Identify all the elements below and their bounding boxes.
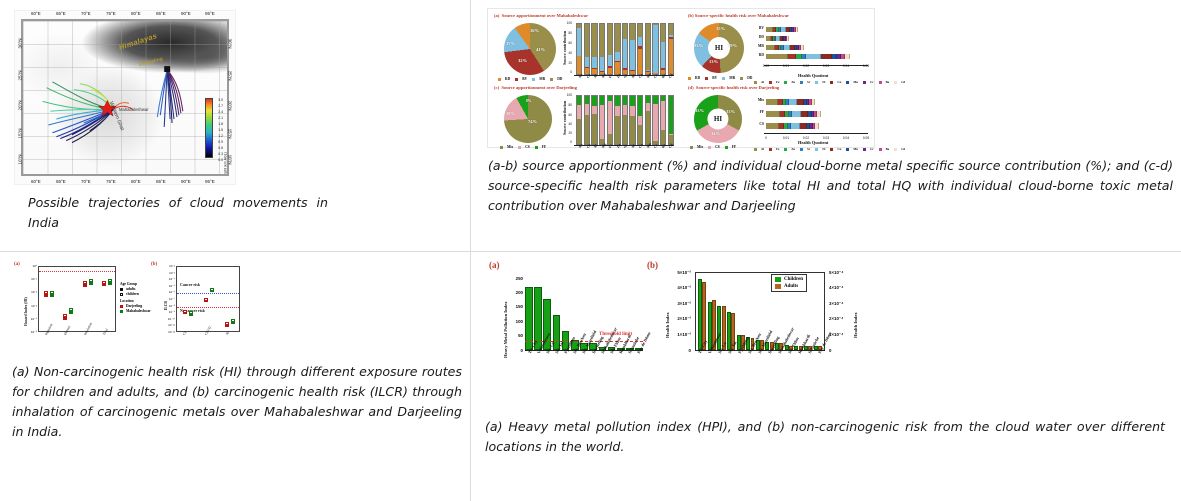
hpi-legend-adults: Adults [775,284,803,289]
stacked-bar-segment [577,119,581,144]
map-plot-area: Himalayas Darjeeling Mahabaleshwar Weste… [21,19,229,176]
scatter-ytick: 10⁻⁹ [164,310,175,314]
scatter-xlabel: Ni [225,331,230,336]
hbar-track [766,45,804,50]
stacked-bar-segment [623,24,627,39]
map-ytick-left: 15°N [17,129,22,139]
hpi-legend-children: Children [775,277,803,282]
hpi-panel-b-legend: Children Adults [771,274,807,292]
scatter-marker [44,291,48,294]
panel-b-pct-mr: 23% [694,43,703,48]
map-colorbar [205,98,213,158]
hbar-xtick: 0.00 [761,64,771,68]
hbar-category-label: RD [748,53,764,57]
stacked-bar-xlabel: Mn [646,142,652,149]
trajectory-map: Himalayas Darjeeling Mahabaleshwar Weste… [14,10,236,185]
map-ytick-right: 20°N [228,101,233,111]
stacked-bar-column [668,23,674,75]
stacked-bar-segment [630,40,634,70]
hbar-xtick: 0.02 [801,64,811,68]
stacked-bar-xlabel: Sr [623,74,628,79]
stacked-bar-column [599,95,605,145]
stacked-bar-segment [646,103,650,112]
map-xtick-bottom: 85°E [156,179,166,184]
stacked-bar-column [591,23,597,75]
hbar-segment [812,99,815,105]
stacked-bar-column [652,23,658,75]
scatter-marker [69,311,73,314]
hbar-segment [789,99,797,105]
map-xtick-bottom: 90°E [181,179,191,184]
hpi-b-ytick: 0 [669,348,691,353]
hbar-category-label: CS [748,122,764,126]
hpi-b-ytick: 5×10⁻² [669,270,691,276]
hbar-xtick: 0.03 [821,64,831,68]
risk-panel-a-tag: (a) [14,262,20,267]
stacked-bar-segment [669,96,673,134]
stacked-bar-column [591,95,597,145]
hbar-segment [787,36,789,41]
stacked-bar-column [660,95,666,145]
panel-c-pct-ff: 8% [526,99,531,103]
hpi-ytick: 250 [509,276,523,281]
map-xtick-bottom: 60°E [31,179,41,184]
scatter-marker [50,291,54,294]
stacked-bar-xlabel: Na [578,73,584,79]
panel-c-pct-cs: 18% [506,111,515,116]
stacked-bar-column [622,23,628,75]
hpi-b-ytick: 2×10⁻⁴ [829,316,851,322]
panel-a-pct-mr: 17% [506,41,515,46]
stacked-bar-segment [600,96,604,105]
risk-figure-cell: (a) Hazard Index (HI) 10⁰10⁻¹10⁻²10⁻³10⁻… [0,252,471,501]
stacked-bar-xlabel: Ni [631,144,636,149]
risk-panel-b-cancer-line [177,293,239,294]
panel-c-ytick: 100 [564,93,572,97]
stacked-bar-column [607,95,613,145]
hpi-ytick: 150 [509,304,523,309]
stacked-bar-column [584,95,590,145]
stacked-bar-column [629,95,635,145]
map-caption: Possible trajectories of cloud movements… [28,193,328,233]
risk-legend-box: Age Group adults children Location Darje… [120,282,151,313]
map-xtick-top: 70°E [81,11,91,16]
stacked-bar-column [660,23,666,75]
stacked-bar-column [645,95,651,145]
panel-d-title: (d) Source-specific health risk over Dar… [688,85,779,90]
stacked-bar-segment [623,115,627,144]
map-panel-cell: Himalayas Darjeeling Mahabaleshwar Weste… [0,0,471,252]
map-ytick-right: 15°N [228,129,233,139]
stacked-bar-xlabel: Zn [616,73,622,79]
stacked-bar-segment [615,96,619,106]
panel-b-pct-bv: 13% [709,59,718,64]
scatter-xlabel: Cd [182,330,187,335]
stacked-bar-segment [577,56,581,75]
scatter-marker [189,311,193,314]
hbar-segment [788,54,796,59]
risk-panel-a-ylabel: Hazard Index (HI) [24,297,28,326]
hpi-b-ytick: 4×10⁻² [669,285,691,291]
hbar-category-label: MR [748,44,764,48]
scatter-ytick: 10⁻¹² [164,330,175,334]
stacked-bar-segment [615,24,619,52]
hbar-segment [766,27,773,32]
hbar-xtick: 0.05 [861,136,871,140]
stacked-bar-segment [577,96,581,105]
risk-panel-b-tag: (b) [151,262,157,267]
stacked-bar-segment [669,24,673,35]
stacked-bar-segment [615,52,619,61]
scatter-ytick: 10⁻² [26,290,37,294]
stacked-bar-segment [661,42,665,69]
scatter-marker [83,284,87,287]
panel-a-pct-rd: 16% [530,28,539,33]
risk-panel-a-threshold [39,271,115,272]
hbar-category-label: DD [748,35,764,39]
panel-d-donut-center-label: HI [714,115,722,123]
scatter-marker [108,282,112,285]
hbar-track [766,54,850,59]
hbar-segment [766,54,788,59]
panel-d-pct-ff: 33% [695,108,704,113]
panel-b-xlabel: Health Quotient [798,73,828,78]
stacked-bar-segment [577,28,581,56]
map-xtick-bottom: 80°E [131,179,141,184]
stacked-bar-segment [600,24,604,57]
stacked-bar-column [614,95,620,145]
panel-b-metal-legend: Al Fe Zn Sr Ni Cu Mn Cr Ba Cd [754,80,907,84]
hbar-segment [791,123,800,129]
risk-figure-caption: (a) Non-carcinogenic health risk (HI) th… [12,362,462,442]
scatter-ytick: 10⁻⁵ [26,330,37,334]
map-xtick-top: 75°E [106,11,116,16]
hbar-track [766,27,798,32]
hbar-category-label: FF [748,110,764,114]
panel-d-xaxis [764,133,868,134]
map-xtick-bottom: 65°E [56,179,66,184]
scatter-marker [63,317,67,320]
map-ytick-right: 30°N [228,39,233,49]
hbar-segment [792,111,801,117]
hbar-track [766,36,789,41]
hpi-figure-caption: (a) Heavy metal pollution index (HPI), a… [485,417,1165,457]
stacked-bar-column [576,23,582,75]
hbar-segment [766,99,778,105]
stacked-bar-column [622,95,628,145]
panel-a-ylabel: Source contribution [562,31,567,65]
hbar-segment [766,123,779,129]
stacked-bar-segment [608,101,612,135]
map-ytick-left: 30°N [17,39,22,49]
stacked-bar-segment [592,114,596,144]
scatter-marker [102,281,106,284]
stacked-bar-column [614,23,620,75]
panel-c-title: (c) Source apportionment over Darjeeling [494,85,577,90]
scatter-marker [108,279,112,282]
risk-panel-b-note-cancer: Cancer risk [180,282,200,287]
stacked-bar-xlabel: Mg [601,73,607,79]
panel-c-ytick: 20 [564,131,572,135]
hbar-xtick: 0.04 [841,64,851,68]
stacked-bar-segment [653,104,657,141]
panel-a-ytick: 0 [564,70,572,74]
hbar-segment [817,111,821,117]
scatter-marker [63,314,67,317]
legend-item-mahabaleshwar: Mahabaleshwar [120,309,151,313]
panel-d-pct-cs: 34% [711,131,720,136]
stacked-bar-column [584,23,590,75]
scatter-ytick: 10⁻⁸ [164,304,175,308]
stacked-bar-segment [585,57,589,67]
stacked-bar-segment [638,125,642,144]
stacked-bar-segment [585,115,589,144]
stacked-bar-xlabel: Ba [661,73,666,78]
panel-c-ytick: 40 [564,122,572,126]
stacked-bar-segment [630,24,634,40]
hpi-b-ytick: 2×10⁻² [669,316,691,322]
stacked-bar-segment [638,37,642,47]
stacked-bar-segment [600,105,604,140]
stacked-bar-xlabel: Cu [638,143,644,149]
hpi-panel-b-tag: (b) [647,260,658,270]
hbar-xtick: 0.04 [841,136,851,140]
stacked-bar-segment [630,96,634,106]
scatter-marker [231,319,235,322]
panel-b-donut-center-label: HI [715,44,723,52]
scatter-marker [83,281,87,284]
panel-a-pct-dd: 41% [536,47,545,52]
map-wrapper: Himalayas Darjeeling Mahabaleshwar Weste… [0,0,470,233]
scatter-ytick: 10⁻⁵ [164,284,175,288]
map-annotation-mahabaleshwar: Mahabaleshwar [119,107,149,112]
scatter-ytick: 10⁻⁴ [26,317,37,321]
stacked-bar-xlabel: Al [593,144,598,149]
stacked-bar-column [629,23,635,75]
stacked-bar-xlabel: Cr [653,143,658,148]
stacked-bar-segment [661,101,665,130]
stacked-bar-segment [638,49,642,74]
stacked-bar-segment [661,130,665,144]
panel-b-xaxis [764,65,868,66]
panel-c-ytick: 60 [564,113,572,117]
hbar-segment [815,123,819,129]
hbar-category-label: Mix [748,98,764,102]
panel-a-ytick: 20 [564,61,572,65]
stacked-bar-xlabel: Ni [631,74,636,79]
stacked-bar-segment [638,96,642,116]
stacked-bar-column [652,95,658,145]
map-xtick-top: 65°E [56,11,66,16]
panel-b-title: (b) Source-specific health risk over Mah… [688,13,789,18]
scatter-marker [69,308,73,311]
stacked-bar-segment [623,39,627,68]
scatter-ytick: 10⁻⁷ [164,297,175,301]
scatter-ytick: 10⁰ [26,264,37,268]
stacked-bar-segment [592,96,596,106]
stacked-bar-xlabel: Al [593,74,598,79]
hbar-segment [801,45,804,50]
stacked-bar-segment [653,96,657,104]
scatter-ytick: 10⁻¹ [26,277,37,281]
hbar-segment [801,111,808,117]
panel-d-xlabel: Health Quotient [798,140,828,145]
stacked-bar-segment [592,57,596,68]
hpi-b-ytick: 0 [829,348,851,353]
stacked-bar-segment [630,106,634,117]
map-ytick-right: 25°N [228,71,233,81]
panel-c-ytick: 80 [564,103,572,107]
hpi-figure-cell: (a) Heavy Metal Pollution Index 25020015… [471,252,1181,501]
stacked-bar-segment [646,111,650,144]
map-xtick-top: 90°E [181,11,191,16]
risk-figure: (a) Hazard Index (HI) 10⁰10⁻¹10⁻²10⁻³10⁻… [8,260,243,358]
scatter-ytick: 10⁻² [164,264,175,268]
scatter-marker [204,298,208,301]
hpi-panel-a-ylabel: Heavy Metal Pollution Index [503,301,508,358]
hpi-b-ytick: 3×10⁻⁴ [829,301,851,307]
hpi-ytick: 50 [509,333,523,338]
stacked-bar-segment [638,24,642,37]
hpi-panel-b-ylabel-right: Health Index [853,312,858,338]
source-apportionment-caption-text: (a-b) source apportionment (%) and indiv… [488,156,1173,216]
stacked-bar-xlabel: Ba [661,143,666,148]
hbar-segment [766,111,780,117]
stacked-bar-segment [585,96,589,104]
stacked-bar-segment [608,55,612,66]
panel-c-pct-mix: 74% [528,119,537,124]
stacked-bar-xlabel: Mg [601,143,607,149]
stacked-bar-column [607,23,613,75]
stacked-bar-segment [592,24,596,57]
scatter-marker [89,282,93,285]
map-xtick-top: 95°E [205,11,215,16]
legend-item-darjeeling: Darjeeling [120,304,151,308]
panel-a-pct-bv: 32% [518,58,527,63]
hbar-category-label: BV [748,26,764,30]
stacked-bar-xlabel: Fe [608,74,613,79]
panel-b-legend: RD BV MR DD [688,76,754,80]
hpi-ytick: 200 [509,290,523,295]
stacked-bar-segment [608,24,612,55]
legend-item-children: children [120,292,151,296]
map-colorbar-ticks: 3.0 2.7 2.4 2.1 1.8 1.5 1.2 0.9 0.6 0.3 … [214,96,223,160]
scatter-marker [225,322,229,325]
hpi-ytick: 0 [509,348,523,353]
stacked-bar-xlabel: Ca [586,143,592,149]
panel-b-pct-dd: 49% [728,43,737,48]
stacked-bar-segment [653,25,657,73]
map-xtick-top: 60°E [31,11,41,16]
panel-a-ytick: 40 [564,51,572,55]
map-xtick-top: 85°E [156,11,166,16]
hpi-ytick: 100 [509,319,523,324]
panel-a-ytick: 80 [564,31,572,35]
stacked-bar-segment [585,104,589,116]
hbar-xtick: 0.05 [861,64,871,68]
panel-a-ytick: 100 [564,21,572,25]
stacked-bar-xlabel: Cu [638,73,644,79]
panel-a-legend: RD BV MR DD [498,77,564,81]
stacked-bar-segment [638,116,642,125]
stacked-bar-segment [630,116,634,144]
scatter-marker [102,283,106,286]
panel-a-title: (a) Source apportionment over Mahabalesh… [494,13,588,18]
panel-c-ytick: 0 [564,140,572,144]
stacked-bar-xlabel: Cd [668,143,674,149]
stacked-bar-segment [585,24,589,57]
scatter-marker [183,310,187,313]
stacked-bar-xlabel: Cr [653,73,658,78]
stacked-bar-segment [577,105,581,119]
hpi-bar-group-item [727,273,735,350]
panel-d-metal-legend: Al Fe Zn Sr Ni Cu Mn Cr Ba Cd [754,147,907,151]
hbar-track [766,111,821,117]
stacked-bar-column [576,95,582,145]
hbar-segment [806,54,820,59]
stacked-bar-column [668,95,674,145]
stacked-bar-segment [615,116,619,144]
stacked-bar-segment [646,96,650,103]
stacked-bar-segment [623,105,627,116]
hbar-xtick: 0.01 [781,136,791,140]
stacked-bar-segment [615,106,619,117]
stacked-bar-segment [600,57,604,71]
stacked-bar-xlabel: Zn [616,143,622,149]
panel-a-ytick: 60 [564,41,572,45]
stacked-bar-column [599,23,605,75]
stacked-bar-segment [623,96,627,105]
stacked-bar-column [637,95,643,145]
panel-d-legend: Mix CS FF [690,145,738,149]
stacked-bar-xlabel: Na [578,143,584,149]
map-ytick-left: 25°N [17,71,22,81]
scatter-marker [50,294,54,297]
stacked-bar-xlabel: Cd [668,73,674,79]
scatter-marker [89,279,93,282]
stacked-bar-segment [646,24,650,70]
stacked-bar-column [645,23,651,75]
hbar-segment [845,54,850,59]
hbar-xtick: 0.01 [781,64,791,68]
scatter-ytick: 10⁻⁶ [164,290,175,294]
map-xtick-bottom: 95°E [205,179,215,184]
source-apportionment-figure: (a) Source apportionment over Mahabalesh… [487,8,875,148]
figure-grid: Himalayas Darjeeling Mahabaleshwar Weste… [0,0,1181,501]
map-xtick-bottom: 70°E [81,179,91,184]
stacked-bar-xlabel: Fe [608,144,613,149]
scatter-ytick: 10⁻¹¹ [164,323,175,327]
scatter-marker [210,288,214,291]
stacked-bar-column [637,23,643,75]
hpi-b-ytick: 1×10⁻² [669,332,691,338]
hpi-panel-a-tag: (a) [489,260,500,270]
map-ytick-left: 20°N [17,101,22,111]
stacked-bar-xlabel: Mn [646,72,652,79]
hpi-figure: (a) Heavy Metal Pollution Index 25020015… [487,260,857,370]
panel-d-pct-mix: 33% [726,109,735,114]
scatter-ytick: 10⁻⁴ [164,277,175,281]
scatter-ytick: 10⁻³ [26,304,37,308]
map-xtick-top: 80°E [131,11,141,16]
map-ytick-left: 10°N [17,155,22,165]
hbar-track [766,123,819,129]
stacked-bar-xlabel: Ca [586,73,592,79]
stacked-bar-segment [592,106,596,115]
stacked-bar-xlabel: Sr [623,144,628,149]
hpi-b-ytick: 5×10⁻⁴ [829,270,851,276]
hpi-b-ytick: 3×10⁻² [669,301,691,307]
